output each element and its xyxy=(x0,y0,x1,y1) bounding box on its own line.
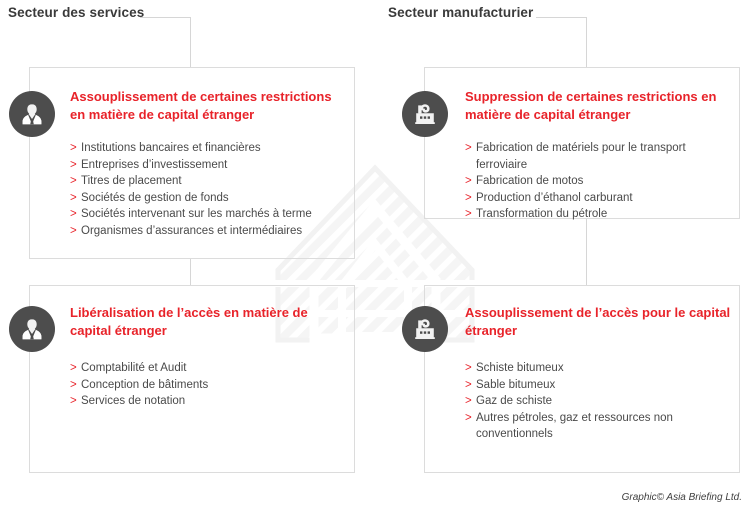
list-item: >Autres pétroles, gaz et ressources non … xyxy=(465,410,737,443)
bullet-marker-icon: > xyxy=(465,377,472,394)
list-item: >Fabrication de matériels pour le transp… xyxy=(465,140,737,173)
bullet-list: >Institutions bancaires et financières>E… xyxy=(70,140,346,239)
bullet-marker-icon: > xyxy=(465,140,472,157)
sector-header-manufacturing: Secteur manufacturier xyxy=(388,5,533,20)
list-item-label: Autres pétroles, gaz et ressources non c… xyxy=(476,412,673,441)
businessperson-icon xyxy=(9,306,55,352)
list-item-label: Transformation du pétrole xyxy=(476,208,607,220)
list-item-label: Production d’éthanol carburant xyxy=(476,192,633,204)
connector-services-down-2 xyxy=(190,259,191,286)
list-item: >Entreprises d’investissement xyxy=(70,157,346,174)
factory-icon xyxy=(402,91,448,137)
bullet-marker-icon: > xyxy=(70,140,77,157)
list-item-label: Comptabilité et Audit xyxy=(81,362,186,374)
list-item: >Titres de placement xyxy=(70,173,346,190)
card-content-manufacturing-easing: Assouplissement de l’accès pour le capit… xyxy=(465,304,737,443)
list-item-label: Organismes d’assurances et intermédiaire… xyxy=(81,225,302,237)
list-item-label: Sociétés intervenant sur les marchés à t… xyxy=(81,208,312,220)
bullet-list: >Comptabilité et Audit>Conception de bât… xyxy=(70,360,346,410)
list-item-label: Fabrication de motos xyxy=(476,175,583,187)
bullet-marker-icon: > xyxy=(70,206,77,223)
connector-manuf-header xyxy=(536,17,587,18)
connector-manuf-down-2 xyxy=(586,219,587,286)
connector-services-header xyxy=(140,17,191,18)
list-item: >Organismes d’assurances et intermédiair… xyxy=(70,223,346,240)
card-heading: Libéralisation de l’accès en matière de … xyxy=(70,304,346,340)
businessperson-icon xyxy=(9,91,55,137)
list-item: >Conception de bâtiments xyxy=(70,377,346,394)
bullet-list: >Schiste bitumeux>Sable bitumeux>Gaz de … xyxy=(465,360,737,443)
list-item: >Sociétés intervenant sur les marchés à … xyxy=(70,206,346,223)
list-item-label: Services de notation xyxy=(81,395,185,407)
list-item: >Services de notation xyxy=(70,393,346,410)
list-item-label: Sable bitumeux xyxy=(476,379,555,391)
sector-header-services: Secteur des services xyxy=(8,5,144,20)
bullet-marker-icon: > xyxy=(70,173,77,190)
bullet-marker-icon: > xyxy=(70,393,77,410)
list-item-label: Gaz de schiste xyxy=(476,395,552,407)
list-item-label: Sociétés de gestion de fonds xyxy=(81,192,229,204)
list-item: >Sociétés de gestion de fonds xyxy=(70,190,346,207)
footer-credit: Graphic© Asia Briefing Ltd. xyxy=(622,492,742,503)
list-item-label: Institutions bancaires et financières xyxy=(81,142,261,154)
list-item: >Comptabilité et Audit xyxy=(70,360,346,377)
list-item-label: Schiste bitumeux xyxy=(476,362,564,374)
connector-services-down-1 xyxy=(190,17,191,68)
bullet-marker-icon: > xyxy=(70,223,77,240)
list-item: >Transformation du pétrole xyxy=(465,206,737,223)
card-content-services-easing: Assouplissement de certaines restriction… xyxy=(70,88,346,239)
list-item: >Production d’éthanol carburant xyxy=(465,190,737,207)
bullet-marker-icon: > xyxy=(70,360,77,377)
bullet-marker-icon: > xyxy=(465,360,472,377)
bullet-marker-icon: > xyxy=(70,377,77,394)
card-heading: Assouplissement de l’accès pour le capit… xyxy=(465,304,737,340)
bullet-marker-icon: > xyxy=(70,190,77,207)
list-item: >Fabrication de motos xyxy=(465,173,737,190)
connector-manuf-down-1 xyxy=(586,17,587,68)
infographic-canvas: Secteur des services Secteur manufacturi… xyxy=(0,0,750,510)
factory-icon xyxy=(402,306,448,352)
list-item: >Schiste bitumeux xyxy=(465,360,737,377)
list-item-label: Fabrication de matériels pour le transpo… xyxy=(476,142,686,171)
bullet-marker-icon: > xyxy=(465,190,472,207)
bullet-marker-icon: > xyxy=(465,410,472,427)
card-heading: Suppression de certaines restrictions en… xyxy=(465,88,737,124)
bullet-marker-icon: > xyxy=(70,157,77,174)
card-heading: Assouplissement de certaines restriction… xyxy=(70,88,346,124)
list-item: >Gaz de schiste xyxy=(465,393,737,410)
card-content-services-liberalization: Libéralisation de l’accès en matière de … xyxy=(70,304,346,410)
bullet-marker-icon: > xyxy=(465,206,472,223)
list-item-label: Titres de placement xyxy=(81,175,182,187)
list-item-label: Entreprises d’investissement xyxy=(81,159,227,171)
list-item: >Sable bitumeux xyxy=(465,377,737,394)
bullet-marker-icon: > xyxy=(465,393,472,410)
bullet-list: >Fabrication de matériels pour le transp… xyxy=(465,140,737,223)
list-item-label: Conception de bâtiments xyxy=(81,379,208,391)
list-item: >Institutions bancaires et financières xyxy=(70,140,346,157)
bullet-marker-icon: > xyxy=(465,173,472,190)
card-content-manufacturing-removal: Suppression de certaines restrictions en… xyxy=(465,88,737,223)
